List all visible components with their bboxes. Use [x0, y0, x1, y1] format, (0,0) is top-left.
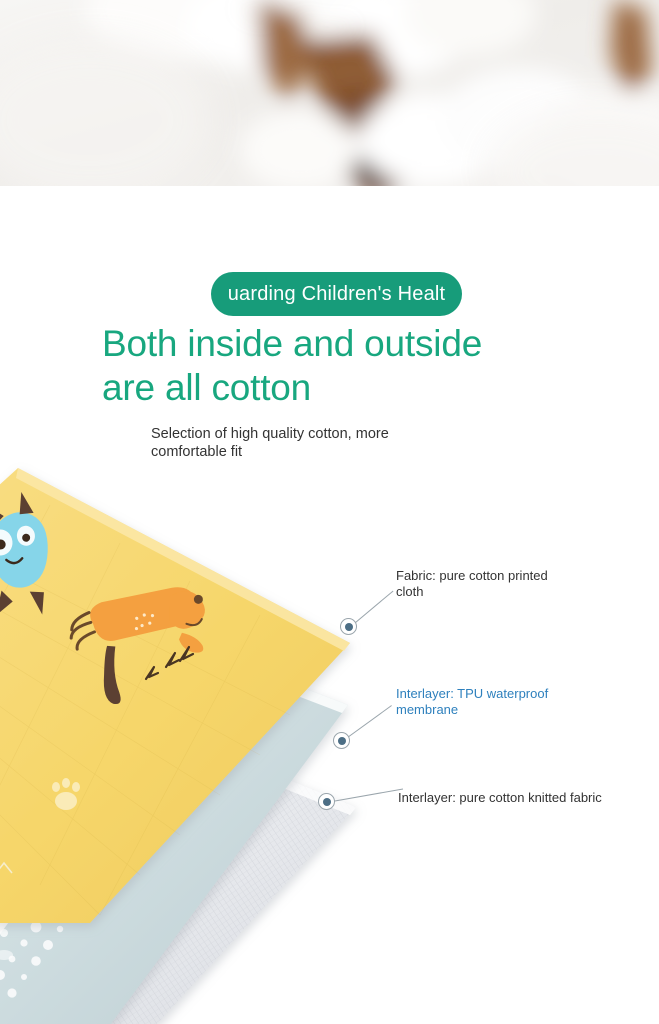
badge-label: uarding Children's Healt	[228, 283, 446, 306]
cotton-banner-image	[0, 0, 659, 186]
callout-label: Interlayer: TPU waterproof membrane	[396, 686, 646, 718]
callout-fabric: Fabric: pure cotton printed cloth	[336, 560, 656, 640]
leader-line	[332, 788, 403, 801]
status-badge: uarding Children's Healt	[211, 272, 462, 316]
product-detail-page: uarding Children's Healt Both inside and…	[0, 0, 659, 1024]
leader-line	[353, 591, 393, 625]
leader-line	[346, 705, 392, 739]
callout-label: Interlayer: pure cotton knitted fabric	[398, 790, 659, 806]
cotton-photo-graphic	[0, 0, 659, 186]
callout-label: Fabric: pure cotton printed cloth	[396, 568, 656, 600]
callout-marker-icon	[333, 732, 350, 749]
callout-knitted: Interlayer: pure cotton knitted fabric	[315, 790, 659, 830]
callout-marker-icon	[340, 618, 357, 635]
callout-marker-icon	[318, 793, 335, 810]
page-title: Both inside and outside are all cotton	[102, 322, 622, 410]
callout-tpu: Interlayer: TPU waterproof membrane	[330, 680, 650, 760]
fabric-stack-graphic	[0, 455, 380, 1024]
fabric-layers-illustration	[0, 455, 380, 1024]
